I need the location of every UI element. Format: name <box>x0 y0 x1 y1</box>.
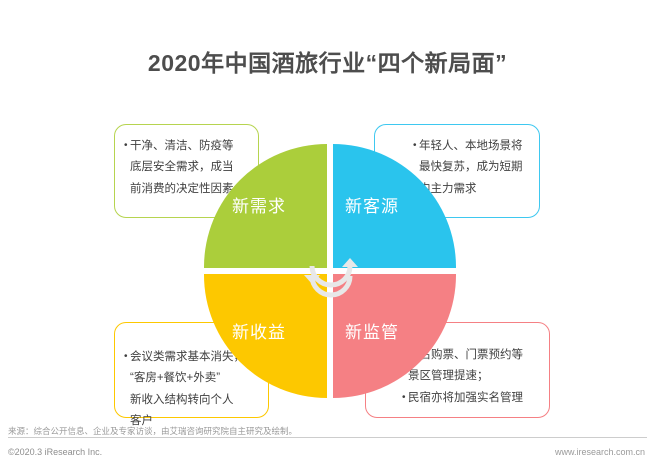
callout-line: 客户 <box>124 411 268 432</box>
cycle-arrows-icon <box>300 240 362 302</box>
footer-divider <box>8 437 647 438</box>
four-quadrant-circle: 新需求 新客源 新收益 新监管 <box>204 144 456 398</box>
website-link[interactable]: www.iresearch.com.cn <box>555 447 645 457</box>
quadrant-label: 新需求 <box>232 192 286 217</box>
quadrant-label: 新监管 <box>345 318 399 343</box>
page-title: 2020年中国酒旅行业“四个新局面” <box>0 44 655 78</box>
quadrant-label: 新客源 <box>345 192 399 217</box>
quadrant-label: 新收益 <box>232 318 286 343</box>
copyright-note: ©2020.3 iResearch Inc. <box>8 447 102 457</box>
